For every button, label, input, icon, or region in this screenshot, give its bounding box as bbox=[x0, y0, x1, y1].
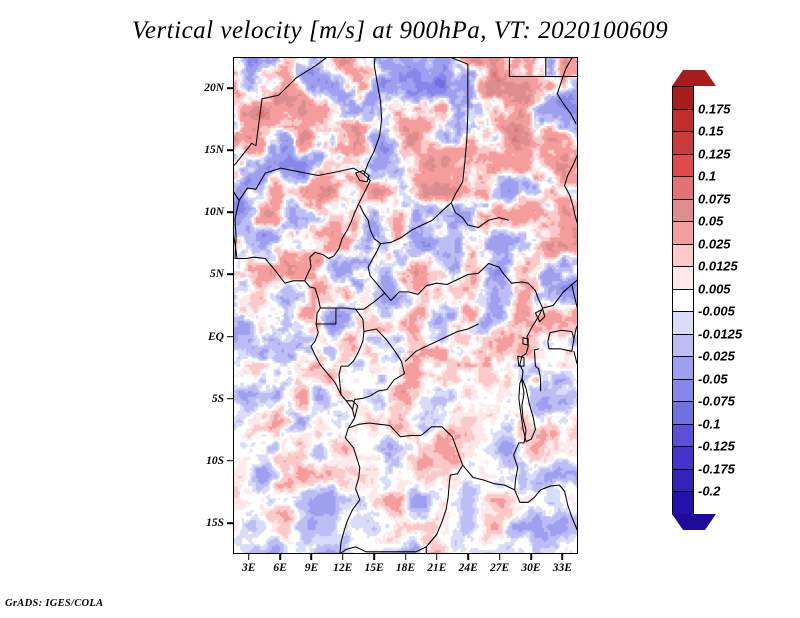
colorbar-tick-label: 0.005 bbox=[698, 281, 731, 296]
colorbar-tick-label: -0.125 bbox=[698, 439, 735, 454]
colorbar-swatch[interactable] bbox=[672, 176, 694, 200]
colorbar-tick-label: -0.0125 bbox=[698, 326, 742, 341]
x-tick-mark bbox=[373, 554, 375, 560]
y-tick-label-5s: 5S bbox=[212, 393, 224, 405]
colorbar-swatch[interactable] bbox=[672, 109, 694, 133]
colorbar-swatch[interactable] bbox=[672, 221, 694, 245]
x-tick-mark bbox=[499, 554, 501, 560]
x-tick-mark bbox=[467, 554, 469, 560]
page-title: Vertical velocity [m/s] at 900hPa, VT: 2… bbox=[0, 17, 800, 45]
y-tick-label-eq: EQ bbox=[208, 331, 224, 343]
y-tick-label-5n: 5N bbox=[210, 268, 224, 280]
y-tick-label-20n: 20N bbox=[204, 82, 224, 94]
colorbar-tick-label: -0.175 bbox=[698, 461, 735, 476]
colorbar-swatch[interactable] bbox=[672, 199, 694, 223]
colorbar-tick-label: 0.0125 bbox=[698, 259, 738, 274]
y-tick-mark bbox=[227, 522, 233, 524]
colorbar-tick-label: -0.075 bbox=[698, 394, 735, 409]
colorbar-swatch[interactable] bbox=[672, 379, 694, 403]
colorbar-tick-label: 0.025 bbox=[698, 236, 731, 251]
colorbar-tick-label: -0.1 bbox=[698, 416, 720, 431]
colorbar-swatch[interactable] bbox=[672, 401, 694, 425]
colorbar-swatch[interactable] bbox=[672, 334, 694, 358]
x-tick-label-18e: 18E bbox=[396, 562, 415, 574]
y-tick-label-15n: 15N bbox=[204, 144, 224, 156]
x-tick-mark bbox=[311, 554, 313, 560]
colorbar-tick-label: -0.2 bbox=[698, 484, 720, 499]
x-tick-label-24e: 24E bbox=[459, 562, 478, 574]
x-tick-label-6e: 6E bbox=[273, 562, 286, 574]
y-tick-mark bbox=[227, 460, 233, 462]
grads-credit: GrADS: IGES/COLA bbox=[5, 598, 103, 609]
x-tick-mark bbox=[405, 554, 407, 560]
colorbar-tick-label: 0.05 bbox=[698, 214, 723, 229]
colorbar-tick-label: 0.125 bbox=[698, 146, 731, 161]
x-tick-label-15e: 15E bbox=[365, 562, 384, 574]
x-tick-label-9e: 9E bbox=[305, 562, 318, 574]
colorbar-swatch[interactable] bbox=[672, 131, 694, 155]
y-tick-mark bbox=[227, 274, 233, 276]
y-tick-label-10n: 10N bbox=[204, 206, 224, 218]
x-tick-label-27e: 27E bbox=[490, 562, 509, 574]
colorbar-swatch[interactable] bbox=[672, 491, 694, 515]
y-tick-mark bbox=[227, 149, 233, 151]
colorbar-arrow-high bbox=[672, 70, 716, 86]
colorbar-tick-label: 0.15 bbox=[698, 124, 723, 139]
colorbar-arrow-low bbox=[672, 514, 716, 530]
x-tick-label-30e: 30E bbox=[521, 562, 540, 574]
colorbar-swatch[interactable] bbox=[672, 86, 694, 110]
y-tick-label-10s: 10S bbox=[206, 455, 224, 467]
colorbar-swatch[interactable] bbox=[672, 424, 694, 448]
colorbar-swatch[interactable] bbox=[672, 446, 694, 470]
x-tick-mark bbox=[248, 554, 250, 560]
y-tick-mark bbox=[227, 398, 233, 400]
colorbar-swatch[interactable] bbox=[672, 311, 694, 335]
y-tick-mark bbox=[227, 87, 233, 89]
colorbar-swatch[interactable] bbox=[672, 469, 694, 493]
y-tick-label-15s: 15S bbox=[206, 517, 224, 529]
colorbar-tick-label: 0.1 bbox=[698, 169, 716, 184]
x-tick-label-3e: 3E bbox=[242, 562, 255, 574]
colorbar-swatch[interactable] bbox=[672, 266, 694, 290]
x-tick-label-33e: 33E bbox=[553, 562, 572, 574]
y-tick-mark bbox=[227, 212, 233, 214]
colorbar-swatch[interactable] bbox=[672, 154, 694, 178]
x-tick-mark bbox=[436, 554, 438, 560]
x-tick-mark bbox=[562, 554, 564, 560]
country-borders-overlay bbox=[234, 58, 577, 553]
map-plot-area[interactable] bbox=[233, 57, 578, 554]
colorbar-tick-label: -0.05 bbox=[698, 371, 728, 386]
x-tick-mark bbox=[530, 554, 532, 560]
colorbar-swatch[interactable] bbox=[672, 356, 694, 380]
x-tick-label-12e: 12E bbox=[333, 562, 352, 574]
x-tick-mark bbox=[279, 554, 281, 560]
colorbar-swatch[interactable] bbox=[672, 244, 694, 268]
colorbar-tick-label: 0.075 bbox=[698, 191, 731, 206]
colorbar-legend[interactable]: 0.1750.150.1250.10.0750.050.0250.01250.0… bbox=[672, 70, 694, 530]
x-tick-mark bbox=[342, 554, 344, 560]
colorbar-tick-label: -0.025 bbox=[698, 349, 735, 364]
colorbar-tick-label: 0.175 bbox=[698, 101, 731, 116]
y-tick-mark bbox=[227, 336, 233, 338]
colorbar-swatch[interactable] bbox=[672, 289, 694, 313]
colorbar-tick-label: -0.005 bbox=[698, 304, 735, 319]
x-tick-label-21e: 21E bbox=[427, 562, 446, 574]
